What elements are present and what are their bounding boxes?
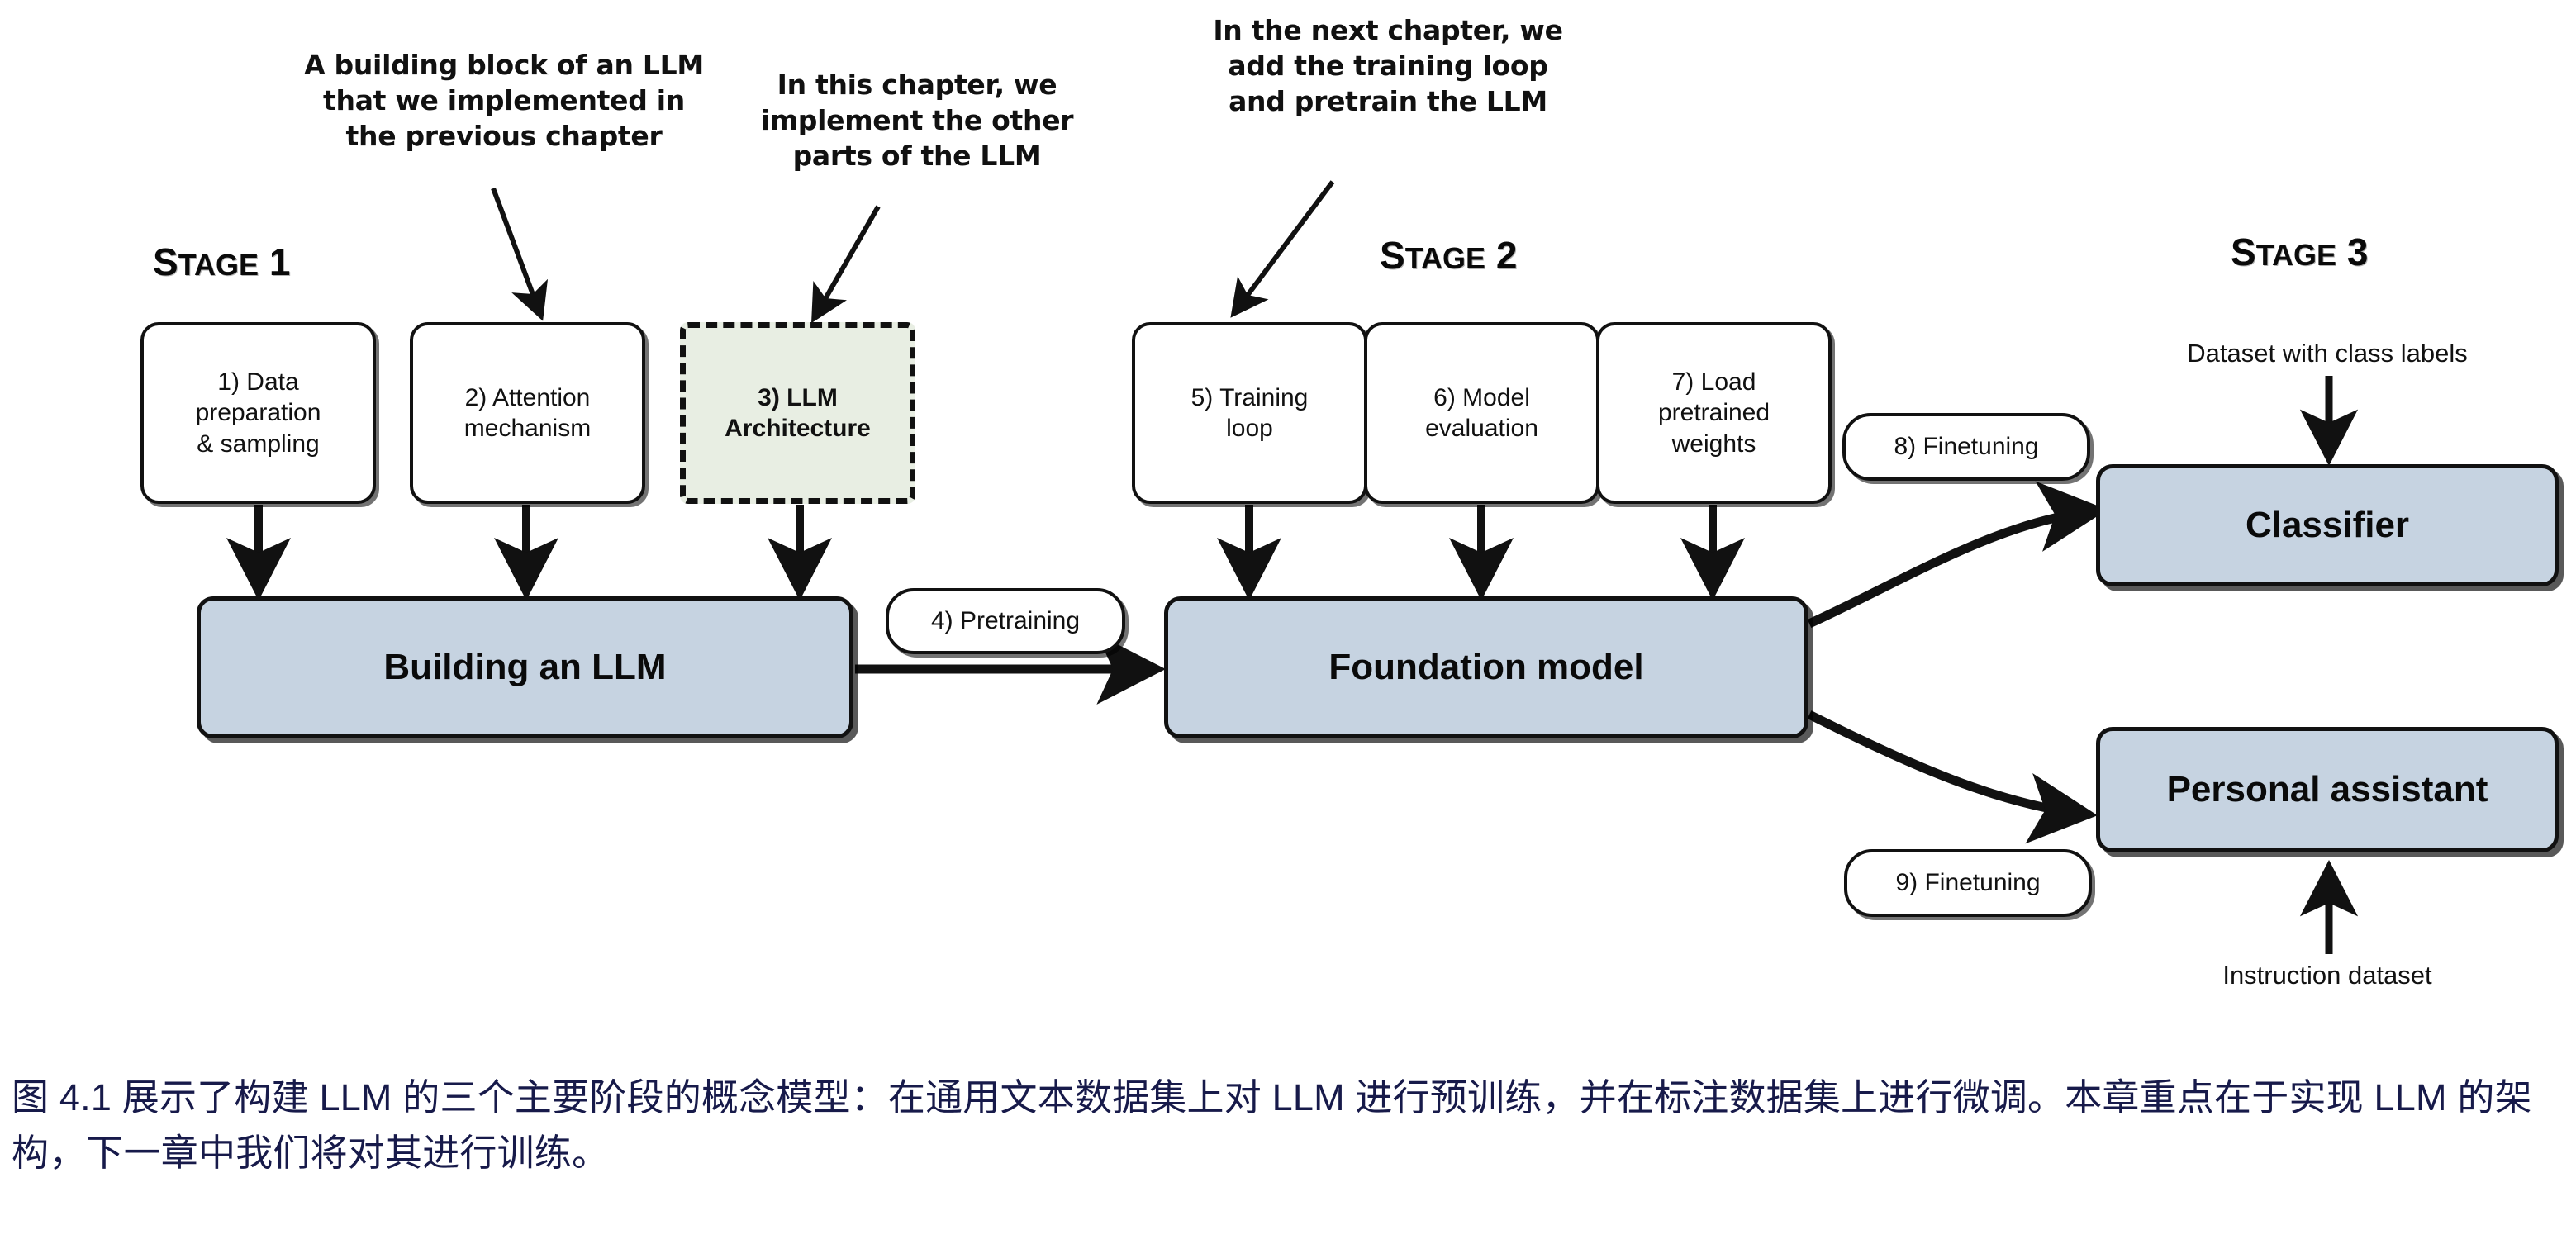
stage-1-rest: TAGE xyxy=(178,248,259,282)
step-box-attention-mechanism[interactable]: 2) Attention mechanism xyxy=(410,322,645,504)
stage-3-num: 3 xyxy=(2347,230,2369,273)
stage-3-prefix: S xyxy=(2231,230,2256,273)
step-box-llm-architecture[interactable]: 3) LLM Architecture xyxy=(680,322,915,504)
annotation-next-chapter: In the next chapter, we add the training… xyxy=(1190,13,1586,120)
stage-2-prefix: S xyxy=(1380,234,1405,277)
step-box-training-loop[interactable]: 5) Training loop xyxy=(1132,322,1367,504)
stage-title-2: STAGE 2 xyxy=(1380,233,1517,278)
box-building-an-llm[interactable]: Building an LLM xyxy=(197,596,853,738)
box-classifier[interactable]: Classifier xyxy=(2096,464,2559,586)
box-personal-assistant[interactable]: Personal assistant xyxy=(2096,727,2559,852)
figure-caption: 图 4.1 展示了构建 LLM 的三个主要阶段的概念模型：在通用文本数据集上对 … xyxy=(12,1071,2566,1180)
box-foundation-model[interactable]: Foundation model xyxy=(1164,596,1808,738)
label-instruction-dataset: Instruction dataset xyxy=(2096,961,2559,990)
arrow-foundation-to-assistant xyxy=(1809,715,2089,814)
stage-title-1: STAGE 1 xyxy=(153,240,290,284)
stage-1-num: 1 xyxy=(269,240,291,283)
annotation-this-chapter: In this chapter, we implement the other … xyxy=(744,68,1091,174)
step-box-data-preparation[interactable]: 1) Data preparation & sampling xyxy=(140,322,376,504)
annotation-previous-chapter: A building block of an LLM that we imple… xyxy=(289,48,719,154)
callout-arrow-previous-chapter xyxy=(493,188,541,316)
arrow-foundation-to-classifier xyxy=(1809,510,2098,624)
callout-arrow-this-chapter xyxy=(814,207,878,319)
step-box-model-evaluation[interactable]: 6) Model evaluation xyxy=(1364,322,1599,504)
figure-canvas: A building block of an LLM that we imple… xyxy=(0,0,2576,1244)
edge-label-finetuning-9[interactable]: 9) Finetuning xyxy=(1844,849,2092,917)
edge-label-finetuning-8[interactable]: 8) Finetuning xyxy=(1842,413,2090,481)
step-box-load-pretrained-weights[interactable]: 7) Load pretrained weights xyxy=(1596,322,1832,504)
stage-title-3: STAGE 3 xyxy=(2231,230,2368,274)
stage-2-num: 2 xyxy=(1496,234,1518,277)
stage-2-space xyxy=(1485,234,1496,277)
stage-1-prefix: S xyxy=(153,240,178,283)
callout-arrow-next-chapter xyxy=(1233,182,1333,314)
stage-2-rest: TAGE xyxy=(1405,241,1485,275)
label-dataset-with-class-labels: Dataset with class labels xyxy=(2096,339,2559,368)
edge-label-pretraining[interactable]: 4) Pretraining xyxy=(886,588,1125,654)
stage-3-rest: TAGE xyxy=(2256,238,2336,272)
stage-3-space xyxy=(2336,230,2347,273)
stage-1-number xyxy=(259,240,269,283)
